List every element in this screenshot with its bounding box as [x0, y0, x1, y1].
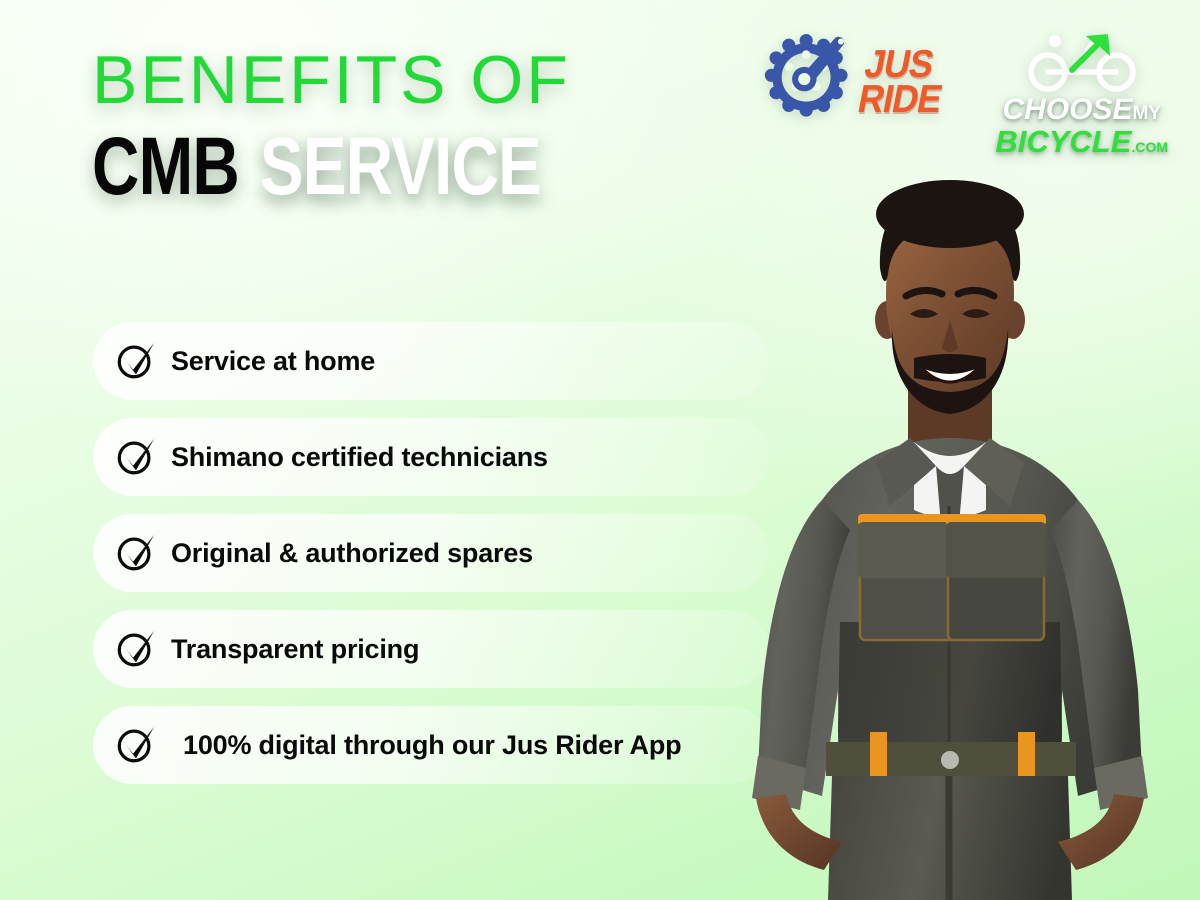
cmb-bicycle-text: BICYCLE: [995, 126, 1131, 157]
benefit-item[interactable]: Original & authorized spares: [93, 514, 769, 592]
bicycle-arrow-icon: [1022, 30, 1142, 97]
check-circle-icon: [115, 532, 157, 574]
jus-ride-line-2: RIDE: [855, 83, 944, 118]
cmb-dotcom-text: .COM: [1131, 140, 1168, 154]
choosemybicycle-line-1: CHOOSE MY: [1002, 95, 1161, 125]
cmb-my-text: MY: [1132, 104, 1161, 123]
benefit-item[interactable]: Service at home: [93, 322, 769, 400]
benefit-label: 100% digital through our Jus Rider App: [183, 730, 681, 761]
headline-cmb: CMB: [92, 121, 239, 212]
check-circle-icon: [115, 724, 157, 766]
cmb-choose-text: CHOOSE: [1002, 95, 1132, 125]
jus-ride-logo[interactable]: JUS RIDE: [762, 30, 951, 135]
headline-line-1: BENEFITS OF: [92, 44, 712, 116]
headline-line-2: CMBSERVICE: [92, 124, 588, 210]
benefit-item[interactable]: Transparent pricing: [93, 610, 769, 688]
benefit-label: Shimano certified technicians: [171, 442, 548, 473]
jus-ride-wordmark: JUS RIDE: [855, 47, 958, 117]
check-circle-icon: [115, 436, 157, 478]
chainring-crank-icon: [762, 30, 856, 135]
headline-service: SERVICE: [260, 121, 541, 212]
check-circle-icon: [115, 628, 157, 670]
page-title: BENEFITS OF CMBSERVICE: [92, 44, 712, 210]
choosemybicycle-logo[interactable]: CHOOSE MY BICYCLE .COM: [995, 30, 1168, 157]
benefit-item[interactable]: Shimano certified technicians: [93, 418, 769, 496]
benefit-label: Transparent pricing: [171, 634, 419, 665]
check-circle-icon: [115, 340, 157, 382]
benefit-item[interactable]: 100% digital through our Jus Rider App: [93, 706, 769, 784]
benefits-list: Service at homeShimano certified technic…: [93, 322, 769, 802]
benefit-label: Original & authorized spares: [171, 538, 533, 569]
benefit-label: Service at home: [171, 346, 375, 377]
technician-photo: [700, 170, 1200, 900]
logo-group: JUS RIDE: [762, 30, 1168, 157]
poster-canvas: BENEFITS OF CMBSERVICE: [0, 0, 1200, 900]
choosemybicycle-line-2: BICYCLE .COM: [995, 126, 1168, 157]
